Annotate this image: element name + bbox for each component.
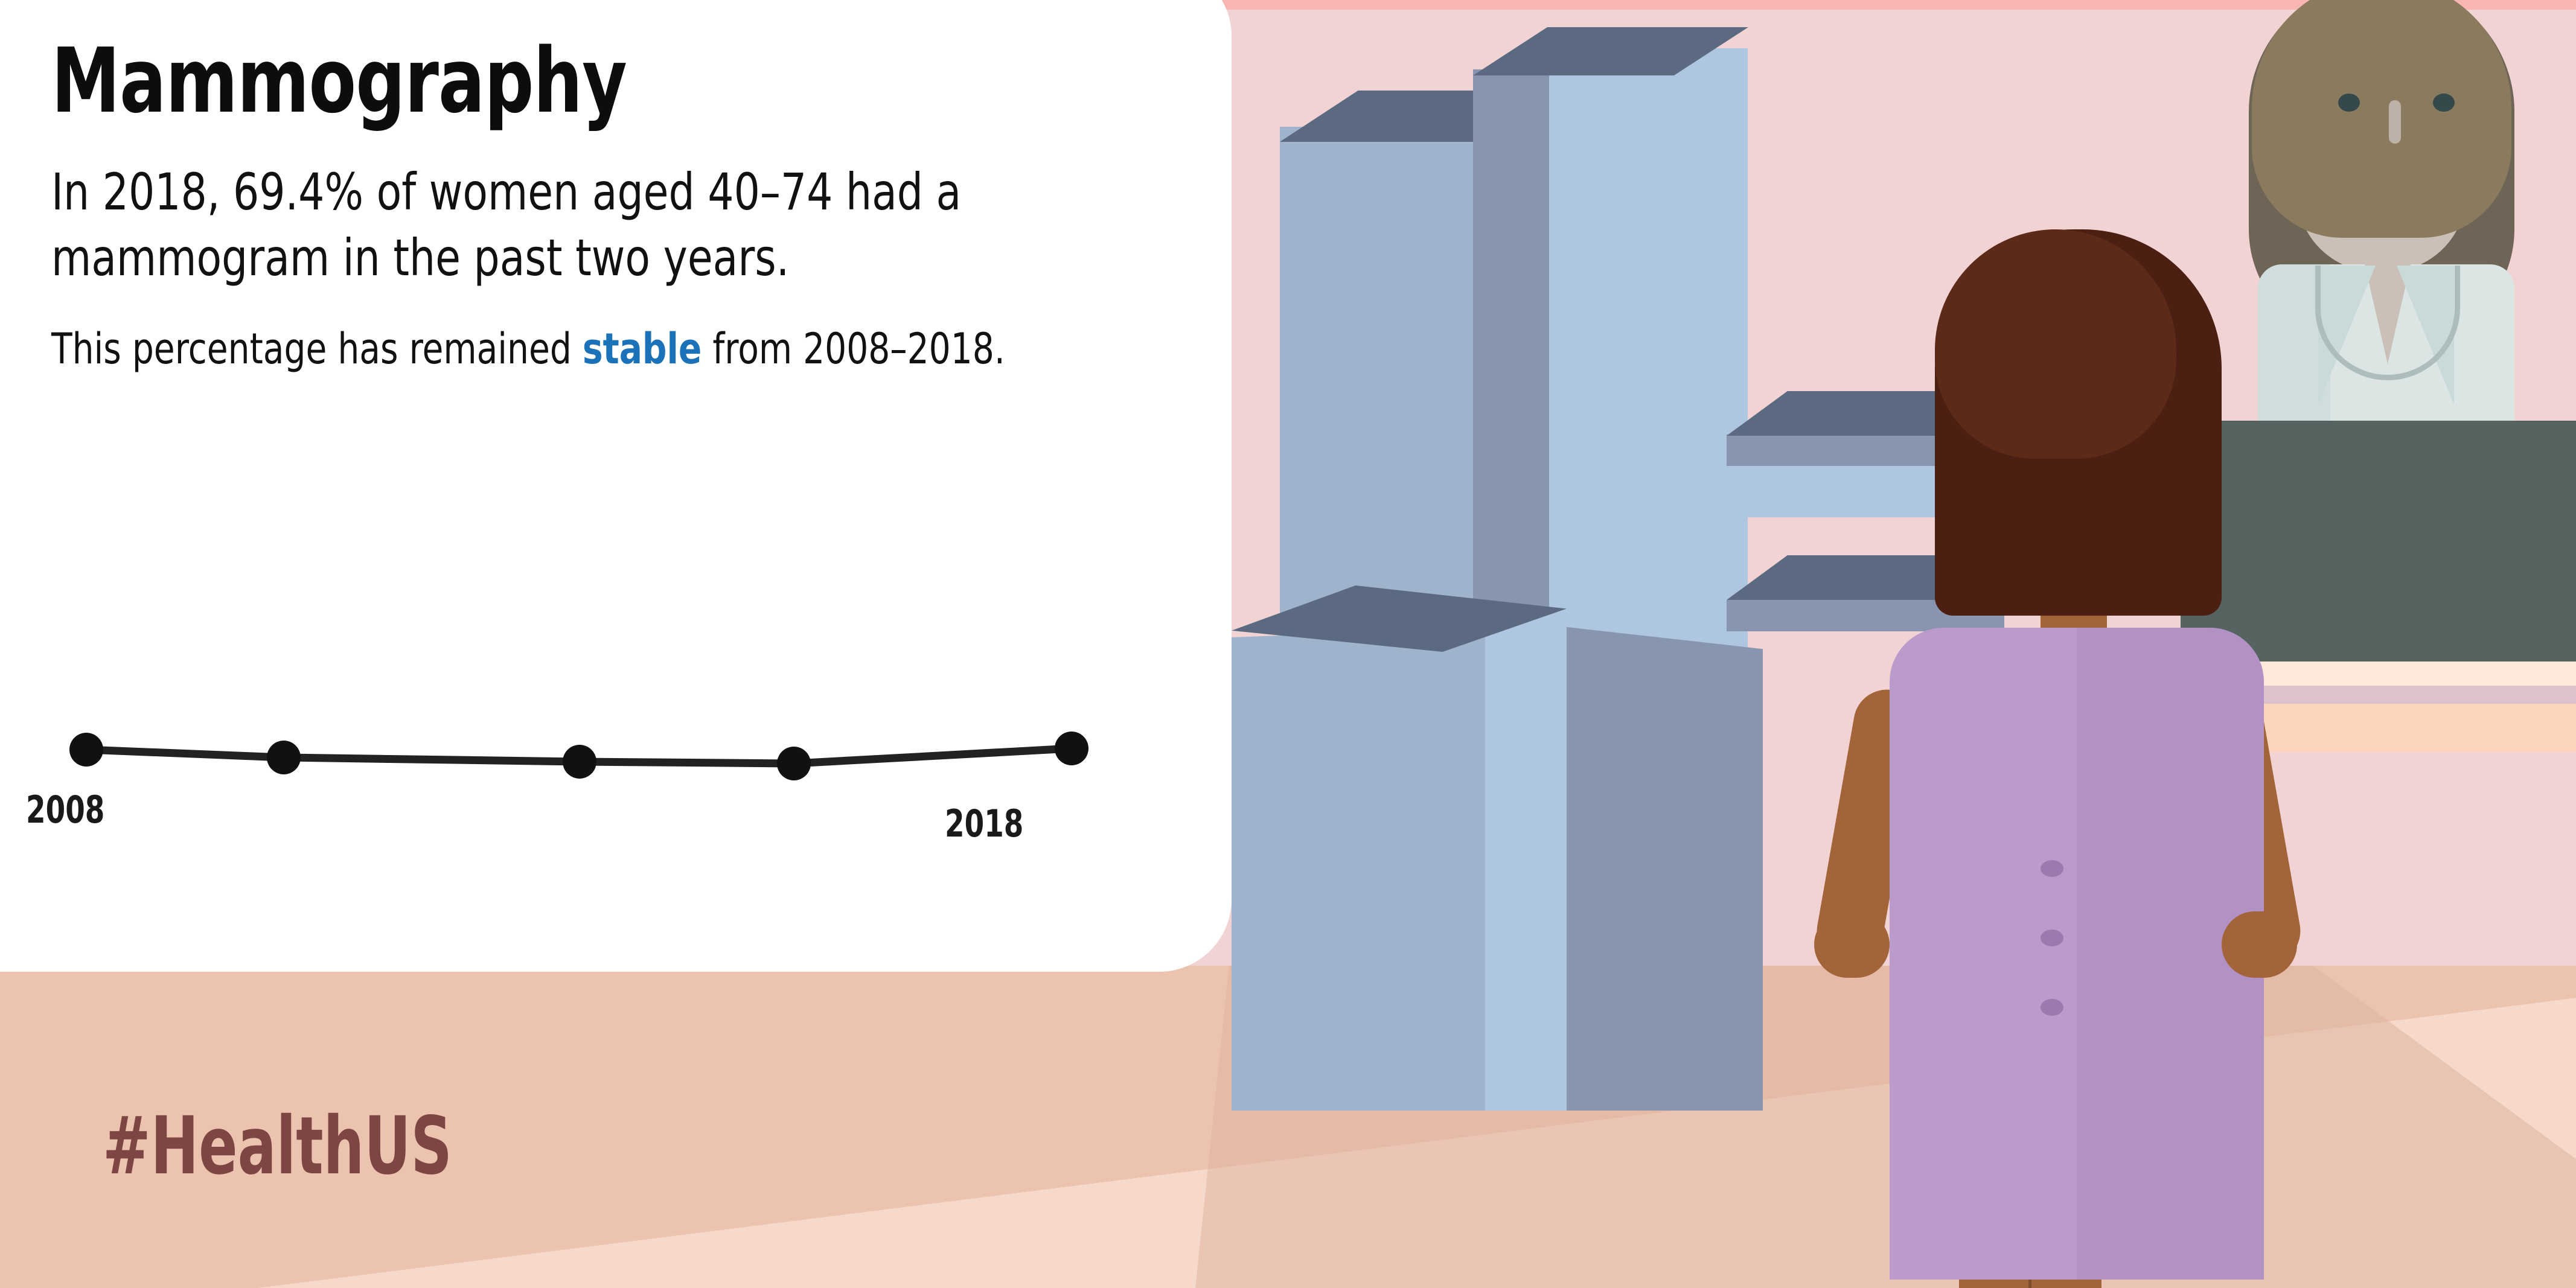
patient-hand-left bbox=[1814, 911, 1890, 978]
trend-prefix: This percentage has remained bbox=[51, 324, 583, 374]
machine-back-front bbox=[1280, 127, 1488, 616]
lead-statistic-text: In 2018, 69.4% of women aged 40–74 had a… bbox=[51, 159, 986, 291]
data-point-2013 bbox=[563, 745, 596, 779]
patient-hair-highlight bbox=[1935, 229, 2176, 459]
info-card: Mammography In 2018, 69.4% of women aged… bbox=[0, 0, 1232, 972]
info-card-content: Mammography In 2018, 69.4% of women aged… bbox=[51, 36, 1168, 377]
machine-column-front bbox=[1548, 48, 1748, 718]
axis-label-start-year: 2008 bbox=[26, 788, 104, 832]
technician-eye-left bbox=[2338, 94, 2360, 112]
machine-base-front bbox=[1232, 628, 1485, 1111]
patient-dress-button-3 bbox=[2041, 999, 2063, 1016]
axis-label-end-year: 2018 bbox=[945, 802, 1023, 846]
data-point-2008 bbox=[69, 733, 103, 767]
technician-eye-right bbox=[2433, 94, 2455, 112]
patient-dress-button-1 bbox=[2041, 860, 2063, 877]
page-title: Mammography bbox=[51, 36, 1012, 126]
hashtag-label: #HealthUS bbox=[103, 1100, 452, 1193]
trend-statement: This percentage has remained stable from… bbox=[51, 321, 1008, 377]
technician-nose bbox=[2389, 100, 2401, 144]
infographic-canvas: Mammography In 2018, 69.4% of women aged… bbox=[0, 0, 2576, 1288]
data-point-2015 bbox=[777, 747, 811, 780]
machine-base-side-back bbox=[1545, 625, 1763, 1111]
data-point-2018 bbox=[1055, 732, 1088, 765]
technician-bangs bbox=[2286, 6, 2477, 97]
patient-dress-button-2 bbox=[2041, 929, 2063, 946]
trend-keyword-stable: stable bbox=[583, 324, 702, 374]
trend-suffix: from 2008–2018. bbox=[702, 324, 1005, 374]
patient-figure bbox=[1799, 229, 2282, 1288]
machine-base-side bbox=[1479, 607, 1567, 1111]
trend-sparkline-chart: 2008 2018 bbox=[15, 718, 1162, 863]
patient-hand-right bbox=[2222, 911, 2297, 978]
data-point-2010 bbox=[267, 741, 301, 774]
